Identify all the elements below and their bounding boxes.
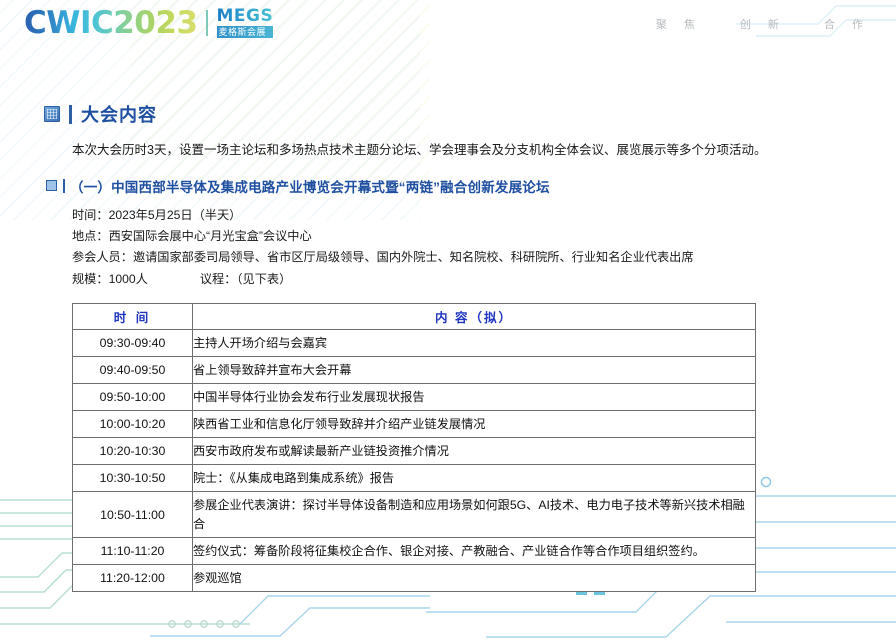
- cell-content: 主持人开场介绍与会嘉宾: [193, 330, 756, 357]
- section-intro-paragraph: 本次大会历时3天，设置一场主论坛和多场热点技术主题分论坛、学会理事会及分支机构全…: [72, 141, 862, 160]
- cell-time: 10:00-10:20: [73, 411, 193, 438]
- subsection-title: （一）中国西部半导体及集成电路产业博览会开幕式暨“两链”融合创新发展论坛: [70, 176, 550, 196]
- agenda-table-head: 时 间 内 容（拟）: [73, 304, 756, 330]
- meta-value-scale: 1000人: [109, 272, 148, 286]
- page-title: 大会内容: [81, 101, 157, 127]
- page-root: CWIC2023 MEGS 麦格斯会展 聚 焦 创 新 合 作 大会内容 本次大…: [0, 0, 896, 642]
- meta-row-scale: 规模：1000人议程：（见下表）: [72, 269, 896, 290]
- cell-content: 中国半导体行业协会发布行业发展现状报告: [193, 384, 756, 411]
- header-slogan: 聚 焦 创 新 合 作: [656, 16, 870, 32]
- cell-time: 09:30-09:40: [73, 330, 193, 357]
- cell-time: 10:20-10:30: [73, 438, 193, 465]
- table-header-row: 时 间 内 容（拟）: [73, 304, 756, 330]
- logo-megs: MEGS 麦格斯会展: [217, 8, 274, 38]
- cell-time: 09:40-09:50: [73, 357, 193, 384]
- cell-time: 11:20-12:00: [73, 565, 193, 592]
- table-row: 10:20-10:30西安市政府发布或解读最新产业链投资推介情况: [73, 438, 756, 465]
- meta-value-agenda: （见下表）: [236, 272, 291, 286]
- logo-cwic-text: CWIC2023: [24, 8, 198, 38]
- meta-label-agenda: 议程：: [200, 272, 237, 286]
- column-header-time: 时 间: [73, 304, 193, 330]
- meta-label-attendees: 参会人员：: [72, 250, 133, 264]
- meta-row-place: 地点：西安国际会展中心“月光宝盒”会议中心: [72, 226, 896, 247]
- cell-time: 09:50-10:00: [73, 384, 193, 411]
- cell-content: 西安市政府发布或解读最新产业链投资推介情况: [193, 438, 756, 465]
- table-row: 09:50-10:00中国半导体行业协会发布行业发展现状报告: [73, 384, 756, 411]
- cell-content: 陕西省工业和信息化厅领导致辞并介绍产业链发展情况: [193, 411, 756, 438]
- agenda-table-body: 09:30-09:40主持人开场介绍与会嘉宾09:40-09:50省上领导致辞并…: [73, 330, 756, 592]
- meta-value-attendees: 邀请国家部委司局领导、省市区厅局级领导、国内外院士、知名院校、科研院所、行业知名…: [133, 250, 694, 264]
- agenda-table: 时 间 内 容（拟） 09:30-09:40主持人开场介绍与会嘉宾09:40-0…: [72, 303, 756, 592]
- brand-logo[interactable]: CWIC2023 MEGS 麦格斯会展: [24, 8, 273, 38]
- subsection-heading: （一）中国西部半导体及集成电路产业博览会开幕式暨“两链”融合创新发展论坛: [46, 176, 896, 196]
- cell-content: 签约仪式：筹备阶段将征集校企合作、银企对接、产教融合、产业链合作等合作项目组织签…: [193, 538, 756, 565]
- column-header-content: 内 容（拟）: [193, 304, 756, 330]
- event-meta-block: 时间：2023年5月25日（半天） 地点：西安国际会展中心“月光宝盒”会议中心 …: [72, 205, 896, 290]
- meta-label-time: 时间：: [72, 208, 109, 222]
- slogan-word-2: 创 新: [740, 16, 786, 32]
- meta-label-scale: 规模：: [72, 272, 109, 286]
- meta-row-time: 时间：2023年5月25日（半天）: [72, 205, 896, 226]
- cell-content: 院士：《从集成电路到集成系统》报告: [193, 465, 756, 492]
- cell-content: 参观巡馆: [193, 565, 756, 592]
- table-row: 10:00-10:20陕西省工业和信息化厅领导致辞并介绍产业链发展情况: [73, 411, 756, 438]
- chip-icon: [44, 106, 60, 122]
- cell-time: 11:10-11:20: [73, 538, 193, 565]
- table-row: 11:20-12:00参观巡馆: [73, 565, 756, 592]
- cell-content: 省上领导致辞并宣布大会开幕: [193, 357, 756, 384]
- slogan-word-3: 合 作: [824, 16, 870, 32]
- agenda-table-wrapper: 时 间 内 容（拟） 09:30-09:40主持人开场介绍与会嘉宾09:40-0…: [72, 303, 756, 592]
- logo-megs-text: MEGS: [217, 8, 274, 25]
- cell-time: 10:50-11:00: [73, 492, 193, 538]
- meta-value-place: 西安国际会展中心“月光宝盒”会议中心: [109, 229, 312, 243]
- meta-row-attendees: 参会人员：邀请国家部委司局领导、省市区厅局级领导、国内外院士、知名院校、科研院所…: [72, 247, 896, 268]
- cell-content: 参展企业代表演讲：探讨半导体设备制造和应用场景如何跟5G、AI技术、电力电子技术…: [193, 492, 756, 538]
- meta-label-place: 地点：: [72, 229, 109, 243]
- heading-accent-bar: [69, 105, 72, 124]
- section-heading: 大会内容: [44, 101, 896, 127]
- meta-value-time: 2023年5月25日（半天）: [109, 208, 242, 222]
- slogan-word-1: 聚 焦: [656, 16, 702, 32]
- cell-time: 10:30-10:50: [73, 465, 193, 492]
- logo-divider: [206, 10, 208, 36]
- table-row: 09:40-09:50省上领导致辞并宣布大会开幕: [73, 357, 756, 384]
- page-header: CWIC2023 MEGS 麦格斯会展 聚 焦 创 新 合 作: [0, 0, 896, 46]
- logo-megs-subtext: 麦格斯会展: [217, 26, 274, 38]
- page-content: 大会内容 本次大会历时3天，设置一场主论坛和多场热点技术主题分论坛、学会理事会及…: [0, 101, 896, 592]
- subheading-accent-bar: [63, 179, 65, 193]
- table-row: 11:10-11:20签约仪式：筹备阶段将征集校企合作、银企对接、产教融合、产业…: [73, 538, 756, 565]
- table-row: 09:30-09:40主持人开场介绍与会嘉宾: [73, 330, 756, 357]
- square-icon: [46, 180, 57, 191]
- table-row: 10:30-10:50院士：《从集成电路到集成系统》报告: [73, 465, 756, 492]
- table-row: 10:50-11:00参展企业代表演讲：探讨半导体设备制造和应用场景如何跟5G、…: [73, 492, 756, 538]
